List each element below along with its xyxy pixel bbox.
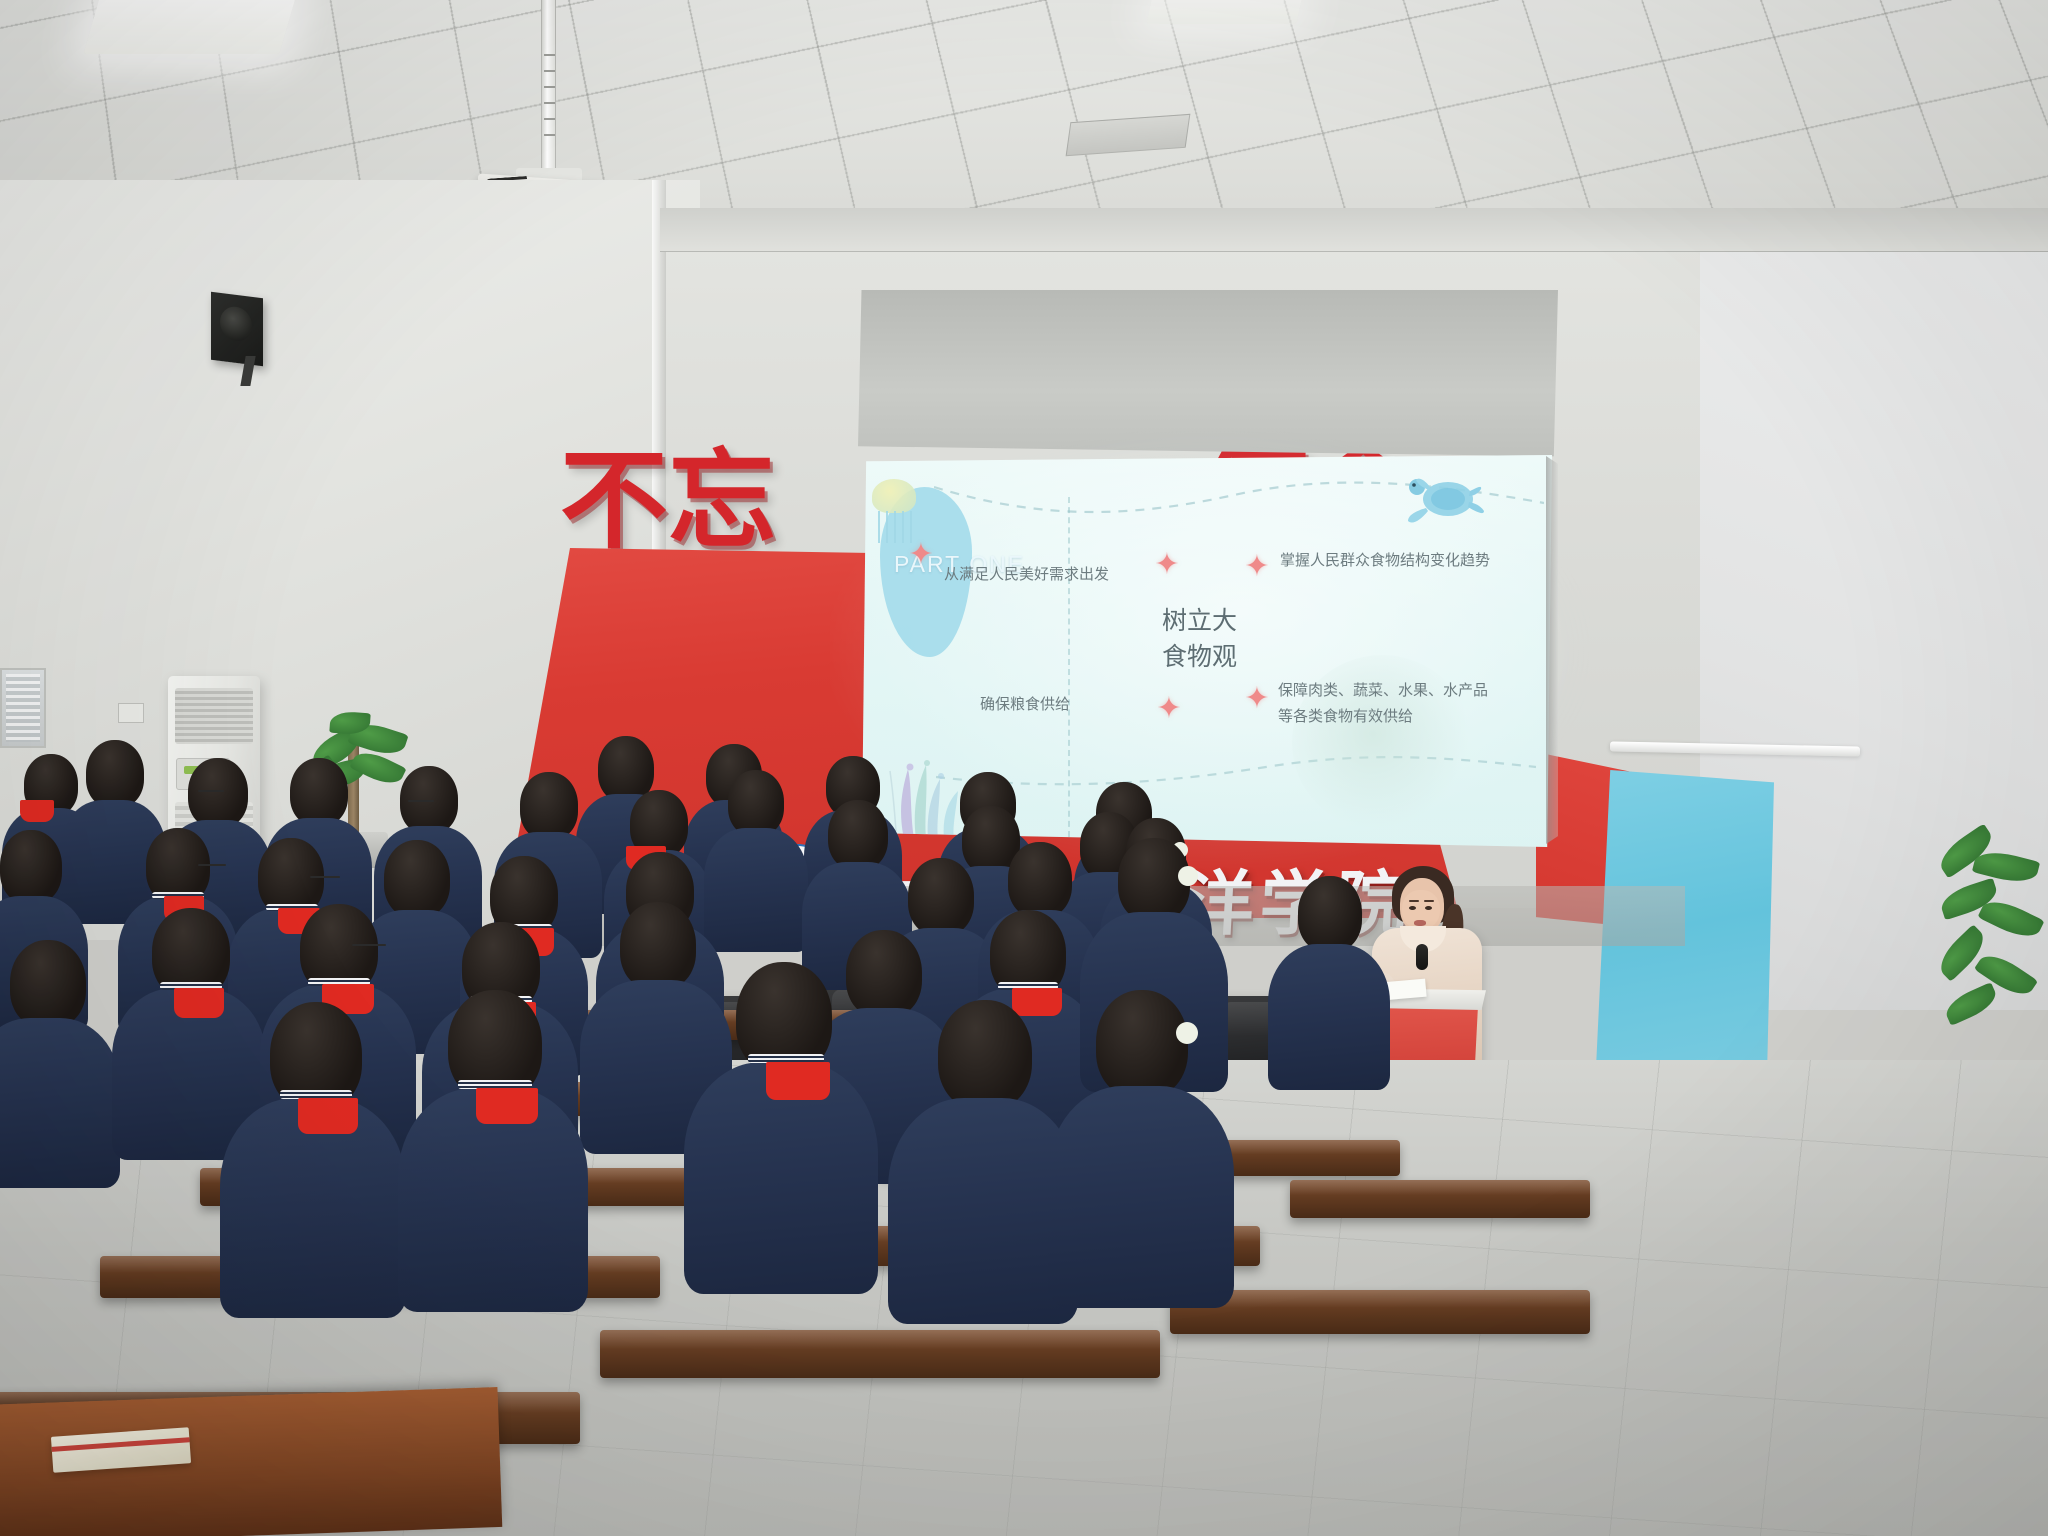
microphone-icon[interactable]: [1416, 944, 1428, 970]
presenter-brow-left: [1409, 900, 1419, 902]
plant-leaf: [1941, 982, 2000, 1026]
wall-slogan-char-1: 不忘: [560, 448, 776, 556]
slide-bullet-bottom-right: 保障肉类、蔬菜、水果、水产品等各类食物有效供给: [1278, 677, 1498, 730]
slide-center-title: 树立大 食物观: [1162, 603, 1237, 676]
starfish-icon-4: ✦: [1242, 553, 1272, 583]
ac-top-grille: [175, 688, 253, 744]
wall-outlet-box: [118, 703, 144, 723]
jellyfish-tentacles-icon: [878, 511, 912, 543]
presenter-eye-left: [1409, 906, 1416, 910]
slide-bullet-top-left: 从满足人民美好需求出发: [944, 561, 1154, 587]
wall-window: [0, 668, 46, 748]
slide-bullet-top-right: 掌握人民群众食物结构变化趋势: [1280, 547, 1495, 573]
bench-row: [1290, 1180, 1590, 1218]
starfish-icon-1: ✦: [906, 541, 936, 571]
notebook-band: [52, 1437, 190, 1452]
lecture-hall-photo: 不忘 使命 宁波大学 海洋学院 PAR: [0, 0, 2048, 1536]
presenter-brow-right: [1424, 900, 1434, 902]
bench-row: [1170, 1290, 1590, 1334]
bench-row: [600, 1330, 1160, 1378]
projection-screen-housing: [858, 290, 1558, 458]
ceiling-light-panel-2: [1146, 0, 1303, 24]
projector-mount-pole: [541, 0, 556, 175]
sea-turtle-icon: [1402, 471, 1486, 531]
plant-right: [1930, 828, 2048, 1048]
ceiling-light-panel: [83, 0, 296, 54]
speaker-cone-icon: [220, 305, 252, 343]
starfish-icon-2: ✦: [1152, 551, 1182, 581]
projection-screen-right-edge: [1546, 452, 1558, 848]
starfish-icon-5: ✦: [1242, 685, 1272, 715]
wall-soffit: [660, 208, 2048, 252]
presenter-eye-right: [1425, 906, 1432, 910]
slide-divider-dashed: [1068, 497, 1070, 837]
jellyfish-icon: [872, 479, 916, 513]
slide-bullet-bottom-left: 确保粮食供给: [980, 691, 1170, 717]
